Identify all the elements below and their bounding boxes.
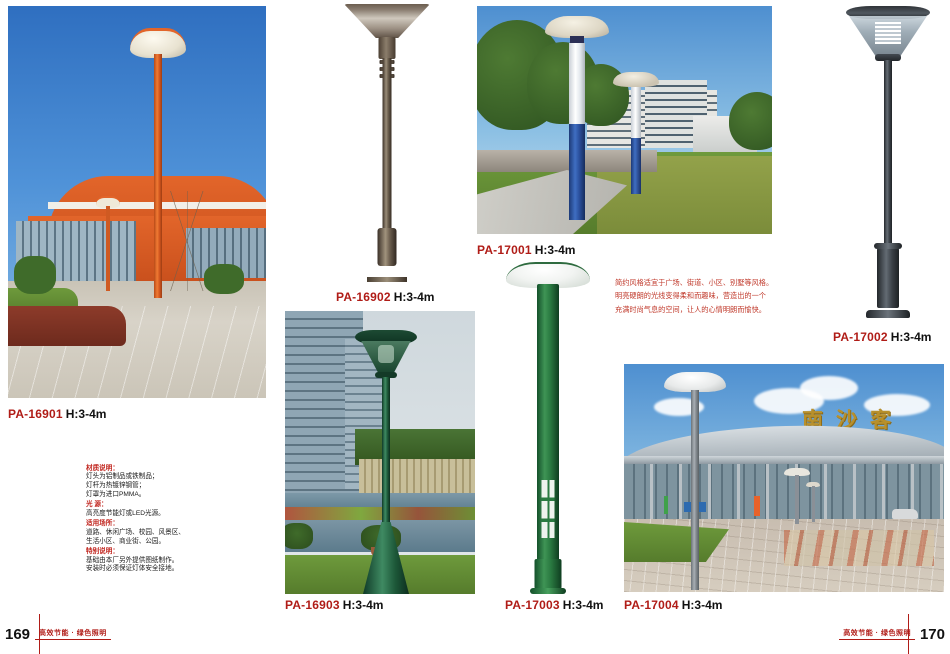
caption-pa-16903: PA-16903H:3-4m (285, 598, 383, 612)
lamp-pole-blue (569, 124, 585, 220)
lamp-far-plaza (806, 482, 820, 522)
product-height: H:3-4m (394, 290, 435, 304)
bare-tree (158, 191, 218, 291)
lamp-pa-16902 (341, 4, 433, 282)
lamp-luminous-section (569, 43, 585, 125)
lamp-foot (877, 248, 899, 308)
product-code: PA-17001 (477, 243, 532, 257)
lamp-flared-base (363, 522, 409, 594)
page-number-right: 170 (915, 626, 950, 643)
lamp-foot (535, 559, 562, 589)
lamp-dish (664, 372, 726, 392)
product-code: PA-16901 (8, 407, 63, 421)
lamp-pole-small (812, 486, 815, 522)
marketing-note: 简约风格适宜于广场、街道、小区、别墅等风格。 明亮硬朗的光线变得柔和而趣味，营造… (615, 276, 815, 316)
product-height: H:3-4m (563, 598, 604, 612)
lamp-secondary (96, 196, 120, 291)
door-accent-orange (754, 496, 760, 516)
footer-divider-right (908, 614, 909, 654)
lamp-base-plate (530, 588, 566, 594)
lamp-neck (379, 37, 396, 59)
photo-pa-17001 (477, 6, 772, 234)
marketing-line-3: 充满时尚气息的空间，让人的心情明朗而愉快。 (615, 303, 815, 316)
lamp-base-plate (367, 277, 407, 282)
spec-heading-notes: 特别说明： (86, 548, 236, 557)
spec-line: 安装时必须保证灯体安全接地。 (86, 565, 236, 574)
product-code: PA-16902 (336, 290, 391, 304)
page-number-left: 169 (0, 626, 35, 643)
lamp-base-plate (866, 310, 910, 318)
spec-heading-applications: 适用场所： (86, 520, 236, 529)
footer-right: 高效节能 · 绿色照明 170 (839, 620, 950, 648)
cloud-2 (800, 376, 858, 400)
product-height: H:3-4m (343, 598, 384, 612)
lamp-pa-17001-tall (545, 14, 609, 220)
parked-car (892, 509, 918, 519)
product-code: PA-17004 (624, 598, 679, 612)
spec-line: 灯头为铝制品或铁制品； (86, 473, 236, 482)
lamp-pa-17003 (503, 262, 593, 594)
product-height: H:3-4m (682, 598, 723, 612)
lamp-pa-17002 (842, 6, 934, 318)
caption-pa-17001: PA-17001H:3-4m (477, 243, 575, 257)
photo-pa-16901 (8, 6, 266, 398)
spec-line: 高亮度节能灯或LED光源。 (86, 510, 236, 519)
lamp-pa-16903 (355, 330, 417, 594)
lamp-pa-17001-short (613, 72, 659, 194)
spec-line: 道路、休闲广场、校园、风景区、 (86, 529, 236, 538)
photo-pa-17004: 南沙客 (624, 364, 944, 592)
lamp-pole (382, 377, 390, 532)
lamp-pole (537, 284, 559, 594)
footer-tagline-right: 高效节能 · 绿色照明 (839, 628, 915, 640)
lamp-window-grid (542, 480, 555, 538)
lamp-pa-17004-foreground (664, 368, 726, 590)
shrub-left (14, 256, 56, 294)
caption-pa-17004: PA-17004H:3-4m (624, 598, 722, 612)
product-code: PA-16903 (285, 598, 340, 612)
spec-heading-light-source: 光 源： (86, 501, 236, 510)
lamp-base-bulge (378, 228, 397, 266)
red-mulch-bed (8, 306, 126, 346)
product-height: H:3-4m (66, 407, 107, 421)
product-code: PA-17003 (505, 598, 560, 612)
caption-pa-17003: PA-17003H:3-4m (505, 598, 603, 612)
product-height: H:3-4m (891, 330, 932, 344)
lamp-luminous-section (631, 87, 641, 139)
caption-pa-17002: PA-17002H:3-4m (833, 330, 931, 344)
spec-line: 生活小区、商业街、公园。 (86, 538, 236, 547)
spec-heading-material: 材质说明： (86, 465, 236, 474)
product-code: PA-17002 (833, 330, 888, 344)
lamp-dish (545, 16, 609, 38)
specification-block: 材质说明： 灯头为铝制品或铁制品； 灯杆为热镀锌钢管； 灯罩为进口PMMA。 光… (86, 463, 236, 574)
product-height: H:3-4m (535, 243, 576, 257)
catalog-spread: PA-16901H:3-4m PA-16902H:3-4m (0, 0, 950, 654)
spec-line: 灯罩为进口PMMA。 (86, 491, 236, 500)
lamp-pole-small (106, 206, 110, 291)
caption-pa-16902: PA-16902H:3-4m (336, 290, 434, 304)
footer-divider-left (39, 614, 40, 654)
lamp-glass (358, 341, 414, 375)
tree-canopy-right (729, 92, 772, 150)
footer-tagline-left: 高效节能 · 绿色照明 (35, 628, 111, 640)
lamp-glass (849, 16, 927, 56)
caption-pa-16901: PA-16901H:3-4m (8, 407, 106, 421)
footer-left: 169 高效节能 · 绿色照明 (0, 620, 111, 648)
lamp-shade (344, 4, 430, 38)
lamp-pole-small (795, 475, 799, 524)
lamp-pole-blue (631, 138, 641, 194)
marketing-line-2: 明亮硬朗的光线变得柔和而趣味，营造出的一个 (615, 289, 815, 302)
paving-color-inlay (784, 530, 934, 566)
lamp-pole-grey (691, 390, 699, 590)
spec-line: 灯杆为热镀锌钢管； (86, 482, 236, 491)
planter-left (285, 523, 313, 549)
marketing-line-1: 简约风格适宜于广场、街道、小区、别墅等风格。 (615, 276, 815, 289)
lamp-dish (613, 72, 659, 87)
